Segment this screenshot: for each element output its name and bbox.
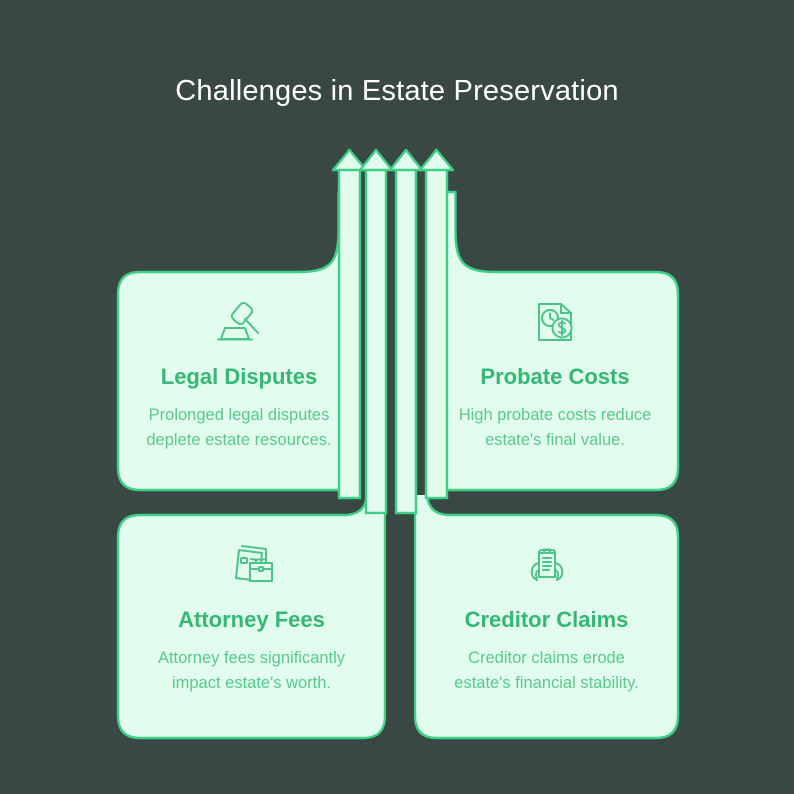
card-creditor-claims[interactable]: Creditor Claims Creditor claims erode es… [415, 515, 678, 738]
card-title: Probate Costs [480, 364, 629, 390]
arrow-gap [417, 150, 425, 495]
card-probate-costs[interactable]: Probate Costs High probate costs reduce … [432, 272, 678, 490]
card-title: Legal Disputes [161, 364, 317, 390]
card-attorney-fees[interactable]: Attorney Fees Attorney fees significantl… [118, 515, 385, 738]
briefcase-documents-icon [221, 537, 283, 593]
hands-holding-document-icon [516, 537, 578, 593]
card-description: Attorney fees significantly impact estat… [144, 646, 359, 696]
card-title: Creditor Claims [465, 607, 629, 633]
infographic-root: Challenges in Estate Preservation [0, 0, 794, 794]
gavel-icon [208, 294, 270, 350]
card-title: Attorney Fees [178, 607, 325, 633]
document-clock-dollar-icon [524, 294, 586, 350]
card-gap-bottom [386, 495, 414, 745]
card-description: Creditor claims erode estate's financial… [439, 646, 654, 696]
card-description: High probate costs reduce estate's final… [455, 403, 655, 453]
card-legal-disputes[interactable]: Legal Disputes Prolonged legal disputes … [118, 272, 360, 490]
arrow-gap [387, 150, 395, 495]
card-description: Prolonged legal disputes deplete estate … [139, 403, 339, 453]
